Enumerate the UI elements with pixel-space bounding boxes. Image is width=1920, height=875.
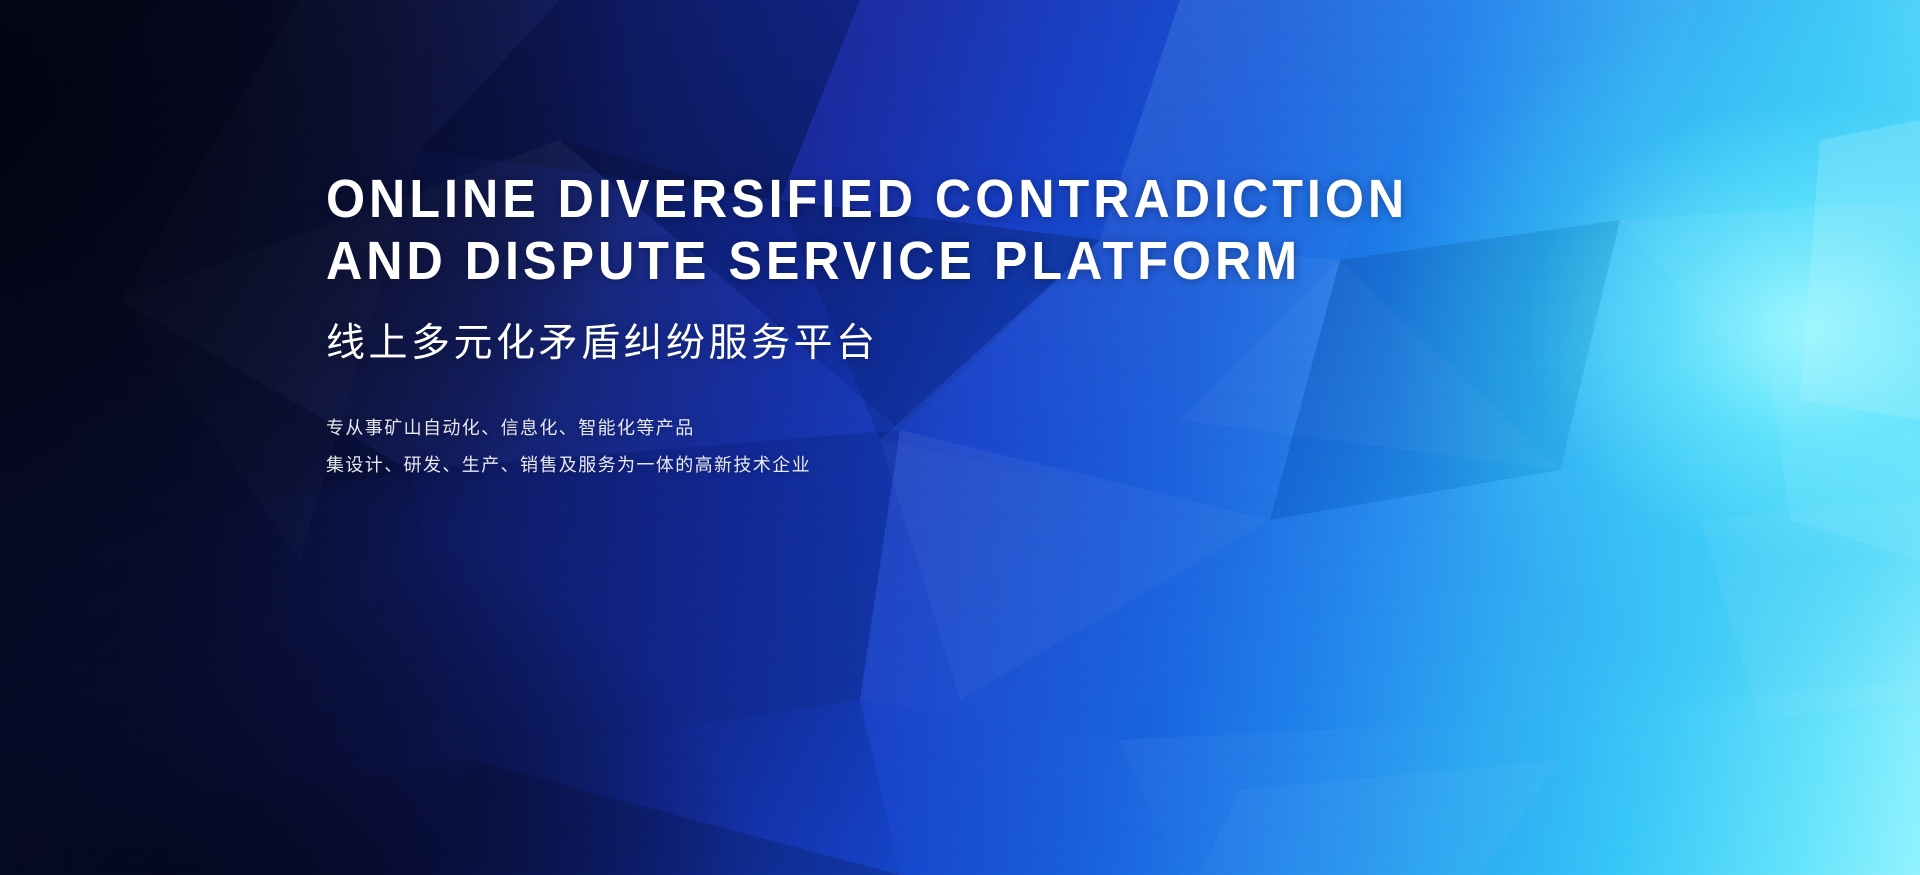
headline-chinese: 线上多元化矛盾纠纷服务平台 (326, 318, 1526, 370)
headline-english: ONLINE DIVERSIFIED CONTRADICTION AND DIS… (326, 168, 1442, 292)
hero-description-list: 专从事矿山自动化、信息化、智能化等产品 集设计、研发、生产、销售及服务为一体的高… (326, 410, 1526, 484)
hero-content: ONLINE DIVERSIFIED CONTRADICTION AND DIS… (326, 168, 1526, 484)
hero-banner: ONLINE DIVERSIFIED CONTRADICTION AND DIS… (0, 0, 1920, 875)
hero-description-line-2: 集设计、研发、生产、销售及服务为一体的高新技术企业 (326, 447, 1526, 484)
hero-description-line-1: 专从事矿山自动化、信息化、智能化等产品 (326, 410, 1526, 447)
